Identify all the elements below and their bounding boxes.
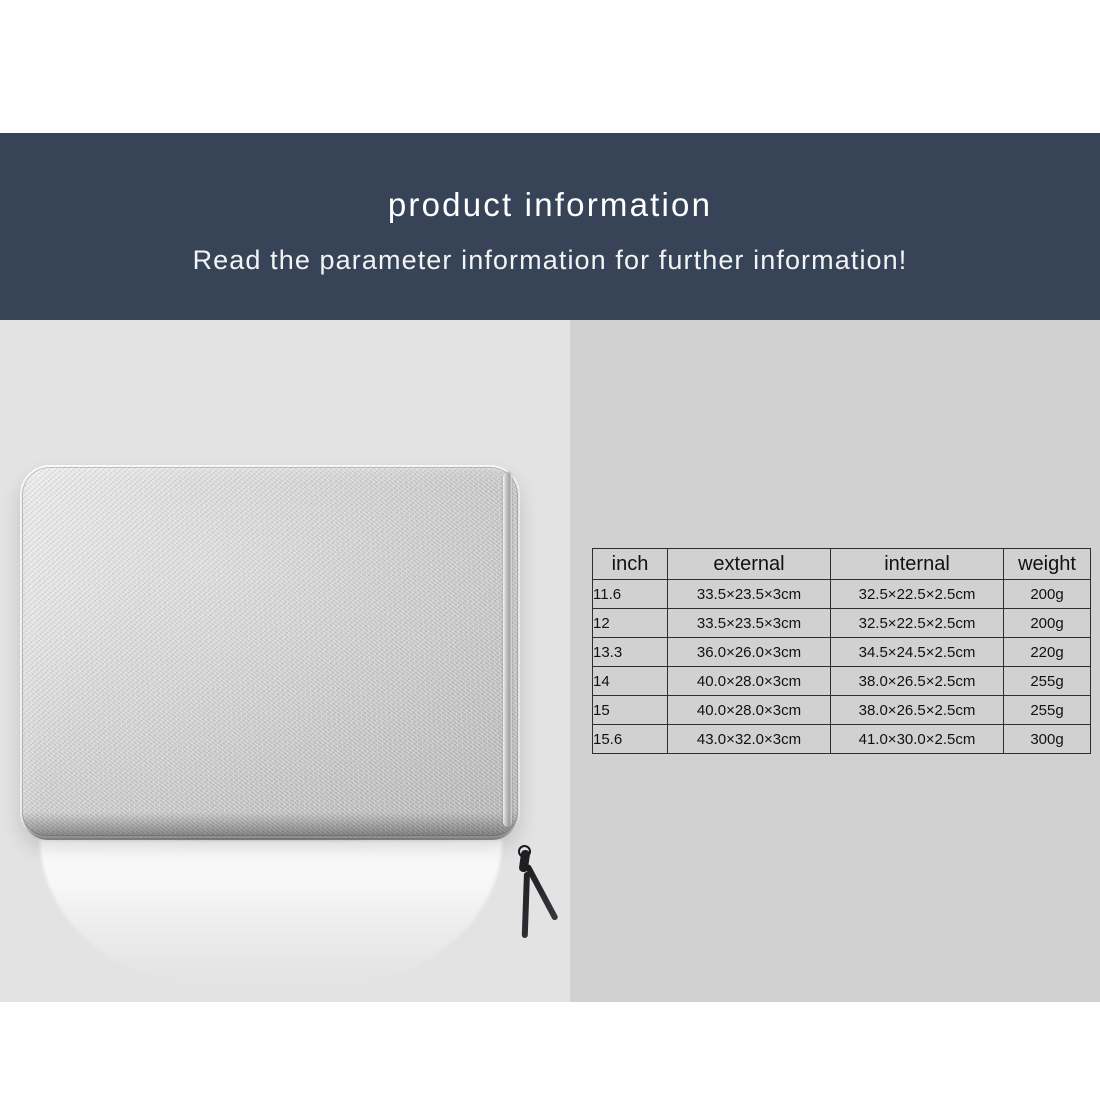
cell-internal: 38.0×26.5×2.5cm	[831, 696, 1004, 725]
page-subtitle: Read the parameter information for furth…	[193, 246, 908, 276]
cell-external: 33.5×23.5×3cm	[668, 609, 831, 638]
laptop-sleeve-body	[20, 465, 520, 838]
cell-external: 43.0×32.0×3cm	[668, 725, 831, 754]
cell-inch: 13.3	[593, 638, 668, 667]
cell-external: 36.0×26.0×3cm	[668, 638, 831, 667]
cell-inch: 14	[593, 667, 668, 696]
product-reflection	[40, 840, 502, 990]
product-information-page: product information Read the parameter i…	[0, 0, 1100, 1100]
cell-weight: 200g	[1004, 580, 1091, 609]
cell-inch: 15.6	[593, 725, 668, 754]
cell-internal: 32.5×22.5×2.5cm	[831, 609, 1004, 638]
column-header-inch: inch	[593, 549, 668, 580]
cell-internal: 41.0×30.0×2.5cm	[831, 725, 1004, 754]
column-header-weight: weight	[1004, 549, 1091, 580]
specification-table: inch external internal weight 11.6 33.5×…	[592, 548, 1091, 754]
table-row: 15 40.0×28.0×3cm 38.0×26.5×2.5cm 255g	[593, 696, 1091, 725]
spec-table-head: inch external internal weight	[593, 549, 1091, 580]
zipper-strap	[524, 864, 558, 922]
spec-panel: inch external internal weight 11.6 33.5×…	[570, 320, 1100, 1002]
cell-inch: 15	[593, 696, 668, 725]
product-information-banner: product information Read the parameter i…	[0, 133, 1100, 320]
column-header-external: external	[668, 549, 831, 580]
cell-external: 33.5×23.5×3cm	[668, 580, 831, 609]
cell-inch: 12	[593, 609, 668, 638]
cell-weight: 300g	[1004, 725, 1091, 754]
table-header-row: inch external internal weight	[593, 549, 1091, 580]
column-header-internal: internal	[831, 549, 1004, 580]
cell-external: 40.0×28.0×3cm	[668, 667, 831, 696]
table-row: 11.6 33.5×23.5×3cm 32.5×22.5×2.5cm 200g	[593, 580, 1091, 609]
cell-internal: 34.5×24.5×2.5cm	[831, 638, 1004, 667]
spec-table-body: 11.6 33.5×23.5×3cm 32.5×22.5×2.5cm 200g …	[593, 580, 1091, 754]
cell-internal: 38.0×26.5×2.5cm	[831, 667, 1004, 696]
cell-weight: 255g	[1004, 667, 1091, 696]
product-photo	[0, 320, 570, 1002]
content-area: inch external internal weight 11.6 33.5×…	[0, 320, 1100, 1002]
product-image-pane	[0, 320, 570, 1002]
table-row: 15.6 43.0×32.0×3cm 41.0×30.0×2.5cm 300g	[593, 725, 1091, 754]
cell-inch: 11.6	[593, 580, 668, 609]
zipper-tab	[522, 872, 530, 938]
cell-internal: 32.5×22.5×2.5cm	[831, 580, 1004, 609]
table-row: 14 40.0×28.0×3cm 38.0×26.5×2.5cm 255g	[593, 667, 1091, 696]
table-row: 12 33.5×23.5×3cm 32.5×22.5×2.5cm 200g	[593, 609, 1091, 638]
cell-external: 40.0×28.0×3cm	[668, 696, 831, 725]
cell-weight: 255g	[1004, 696, 1091, 725]
page-title: product information	[388, 187, 712, 223]
cell-weight: 200g	[1004, 609, 1091, 638]
zipper-track	[503, 472, 512, 827]
table-row: 13.3 36.0×26.0×3cm 34.5×24.5×2.5cm 220g	[593, 638, 1091, 667]
cell-weight: 220g	[1004, 638, 1091, 667]
spec-table-wrap: inch external internal weight 11.6 33.5×…	[592, 548, 1091, 754]
